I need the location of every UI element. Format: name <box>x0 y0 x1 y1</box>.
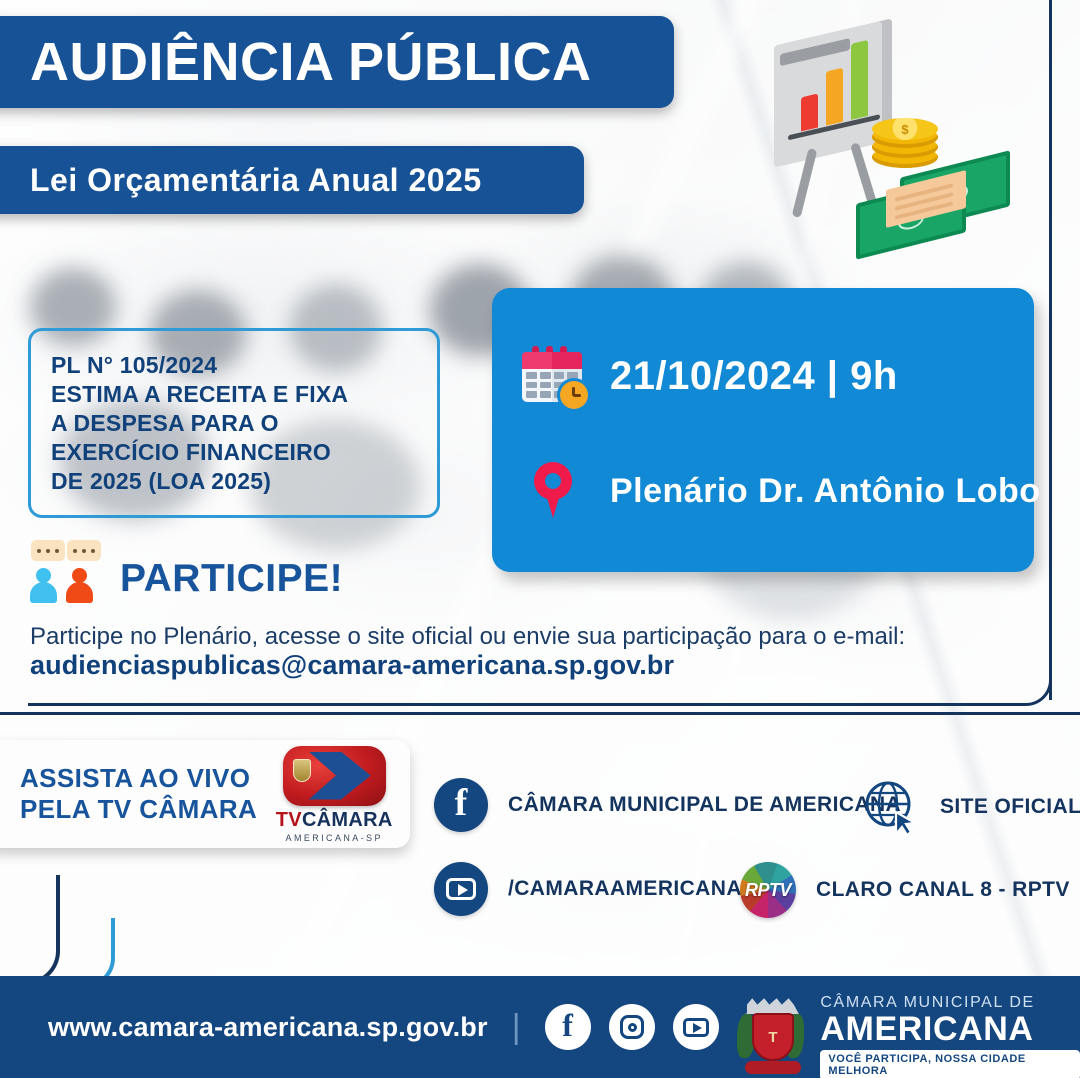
youtube-icon[interactable] <box>673 1004 719 1050</box>
globe-cursor-icon[interactable] <box>862 778 920 836</box>
cash-and-coins-icon <box>848 158 1018 254</box>
bill-line: PL N° 105/2024 <box>51 351 421 380</box>
footer-website-url[interactable]: www.camara-americana.sp.gov.br <box>48 1012 488 1043</box>
event-location-row: Plenário Dr. Antônio Lobo <box>520 460 1041 522</box>
crest-letter: T <box>754 1015 792 1059</box>
watch-live-line1: ASSISTA AO VIVO <box>20 763 257 794</box>
participate-description: Participe no Plenário, acesse o site ofi… <box>30 620 1010 653</box>
youtube-icon[interactable] <box>434 862 488 916</box>
social-website-label: SITE OFICIAL <box>940 795 1080 819</box>
tv-camara-logo: TVCÂMARA AMERICANA-SP <box>275 746 393 843</box>
budget-chart-and-money-illustration <box>760 20 1020 270</box>
brand-tagline: VOCÊ PARTICIPA, NOSSA CIDADE MELHORA <box>820 1050 1080 1078</box>
deco-line-right-bottom <box>28 703 983 706</box>
tv-logo-camara: CÂMARA <box>302 809 393 831</box>
event-location-text: Plenário Dr. Antônio Lobo <box>610 472 1041 511</box>
page-title: AUDIÊNCIA PÚBLICA <box>0 16 674 108</box>
facebook-icon[interactable] <box>545 1004 591 1050</box>
social-rptv[interactable]: RPTV CLARO CANAL 8 - RPTV <box>740 862 1070 918</box>
footer-bar: www.camara-americana.sp.gov.br | | T CÂM… <box>0 976 1080 1078</box>
brand-text: CÂMARA MUNICIPAL DE AMERICANA VOCÊ PARTI… <box>820 994 1080 1078</box>
americana-coat-of-arms: T <box>735 998 806 1076</box>
bill-line: A DESPESA PARA O <box>51 409 421 438</box>
bill-description-box: PL N° 105/2024 ESTIMA A RECEITA E FIXA A… <box>28 328 440 518</box>
footer-separator-left: | <box>506 1008 527 1047</box>
map-pin-icon <box>520 460 584 522</box>
facebook-icon[interactable] <box>434 778 488 832</box>
page-subtitle: Lei Orçamentária Anual 2025 <box>0 146 584 214</box>
brand-line2: AMERICANA <box>820 1012 1080 1046</box>
camara-brand-lockup: T CÂMARA MUNICIPAL DE AMERICANA VOCÊ PAR… <box>735 994 1080 1078</box>
social-facebook-label: CÂMARA MUNICIPAL DE AMERICANA <box>508 793 901 817</box>
instagram-icon[interactable] <box>609 1004 655 1050</box>
social-website[interactable]: SITE OFICIAL <box>862 778 1080 836</box>
watch-live-line2: PELA TV CÂMARA <box>20 794 257 825</box>
tv-logo-tv: TV <box>276 809 302 831</box>
event-date-row: 21/10/2024 | 9h <box>520 346 898 406</box>
event-details-card: 21/10/2024 | 9h Plenário Dr. Antônio Lob… <box>492 288 1034 572</box>
social-youtube[interactable]: /CAMARAAMERICANA <box>434 862 742 916</box>
rptv-logo-text: RPTV <box>740 862 796 918</box>
page-title-text: AUDIÊNCIA PÚBLICA <box>30 35 592 89</box>
bill-line: DE 2025 (LOA 2025) <box>51 467 421 496</box>
social-youtube-label: /CAMARAAMERICANA <box>508 877 742 901</box>
deco-vertical-line-right <box>1049 0 1052 700</box>
rptv-logo-icon[interactable]: RPTV <box>740 862 796 918</box>
two-people-speech-icon <box>28 540 106 602</box>
bill-line: EXERCÍCIO FINANCEIRO <box>51 438 421 467</box>
bill-line: ESTIMA A RECEITA E FIXA <box>51 380 421 409</box>
tv-logo-subtitle: AMERICANA-SP <box>275 833 393 843</box>
social-rptv-label: CLARO CANAL 8 - RPTV <box>816 878 1070 902</box>
page-subtitle-text: Lei Orçamentária Anual 2025 <box>30 162 482 199</box>
social-facebook[interactable]: CÂMARA MUNICIPAL DE AMERICANA <box>434 778 901 832</box>
calendar-clock-icon <box>520 346 584 406</box>
event-date-text: 21/10/2024 | 9h <box>610 354 898 399</box>
participate-heading-row: PARTICIPE! <box>28 540 343 602</box>
poster-canvas: AUDIÊNCIA PÚBLICA Lei Orçamentária Anual… <box>0 0 1080 1078</box>
participate-heading: PARTICIPE! <box>120 559 343 602</box>
participate-email[interactable]: audienciaspublicas@camara-americana.sp.g… <box>30 650 674 681</box>
deco-horizontal-rule <box>0 712 1080 715</box>
watch-live-text: ASSISTA AO VIVO PELA TV CÂMARA <box>20 763 257 825</box>
watch-live-card: ASSISTA AO VIVO PELA TV CÂMARA TVCÂMARA … <box>0 740 410 848</box>
